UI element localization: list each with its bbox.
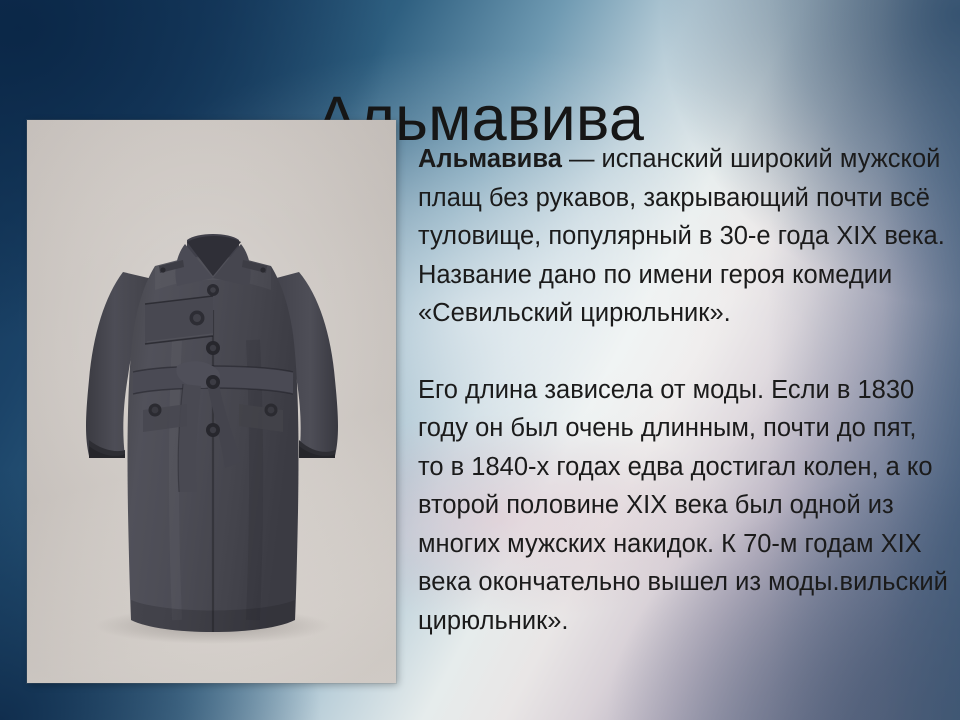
coat-photo-panel [27, 120, 396, 683]
presentation-slide: Альмавива [0, 0, 960, 720]
body-text-block: Альмавива — испанский широкий мужской пл… [418, 140, 948, 640]
paragraph-history: Его длина зависела от моды. Если в 1830 … [418, 371, 948, 641]
coat-illustration [27, 120, 396, 683]
paragraph-definition: Альмавива — испанский широкий мужской пл… [418, 140, 948, 333]
term-almaviva: Альмавива [418, 145, 562, 173]
